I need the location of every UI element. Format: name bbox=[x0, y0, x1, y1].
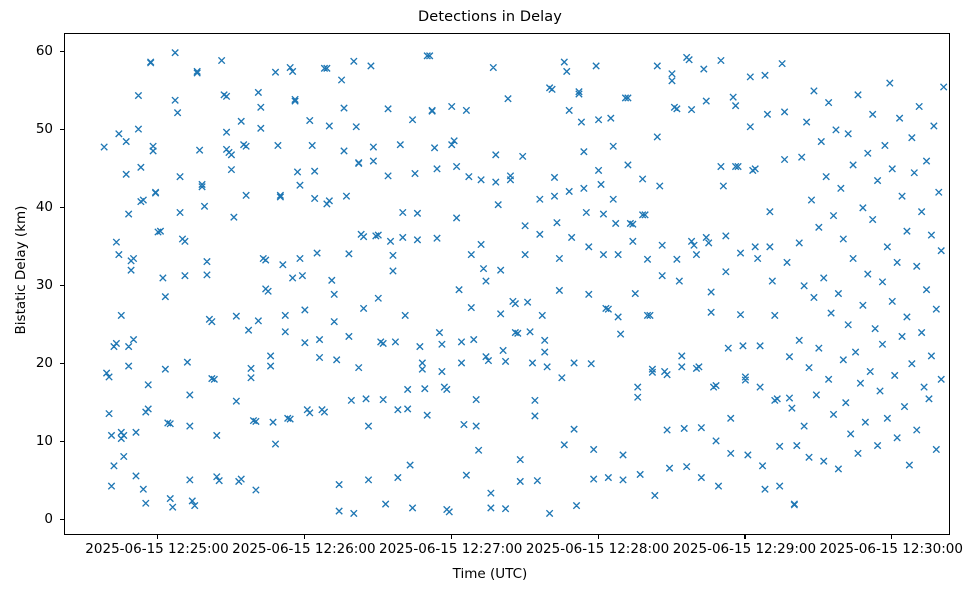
x-tick-mark bbox=[598, 535, 599, 539]
plot-area bbox=[64, 33, 950, 535]
x-axis-label: Time (UTC) bbox=[0, 566, 980, 582]
x-tick-label: 2025-06-15 12:26:00 bbox=[232, 541, 375, 557]
y-tick-mark bbox=[60, 363, 64, 364]
y-tick-mark bbox=[60, 285, 64, 286]
y-tick-mark bbox=[60, 519, 64, 520]
x-tick-mark bbox=[304, 535, 305, 539]
y-tick-label: 50 bbox=[11, 121, 53, 137]
x-tick-mark bbox=[891, 535, 892, 539]
x-tick-label: 2025-06-15 12:29:00 bbox=[673, 541, 816, 557]
y-tick-mark bbox=[60, 207, 64, 208]
x-tick-label: 2025-06-15 12:27:00 bbox=[379, 541, 522, 557]
x-tick-mark bbox=[451, 535, 452, 539]
y-tick-mark bbox=[60, 129, 64, 130]
x-tick-label: 2025-06-15 12:28:00 bbox=[526, 541, 669, 557]
y-tick-label: 60 bbox=[11, 43, 53, 59]
scatter-series bbox=[65, 34, 950, 535]
y-tick-mark bbox=[60, 441, 64, 442]
matplotlib-figure: Detections in Delay 0102030405060 2025-0… bbox=[0, 0, 980, 590]
chart-title: Detections in Delay bbox=[0, 9, 980, 25]
x-tick-mark bbox=[744, 535, 745, 539]
y-tick-mark bbox=[60, 51, 64, 52]
y-tick-label: 10 bbox=[11, 433, 53, 449]
x-tick-mark bbox=[157, 535, 158, 539]
y-tick-label: 0 bbox=[11, 511, 53, 527]
x-tick-label: 2025-06-15 12:30:00 bbox=[820, 541, 963, 557]
y-axis-label: Bistatic Delay (km) bbox=[13, 170, 29, 370]
x-tick-label: 2025-06-15 12:25:00 bbox=[85, 541, 228, 557]
